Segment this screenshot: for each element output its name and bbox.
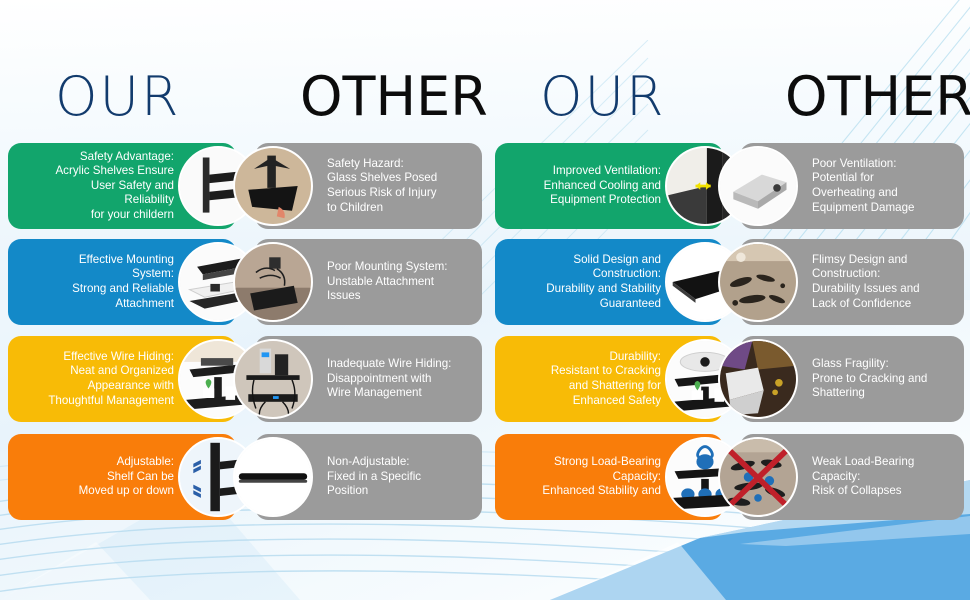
card-line: Resistant to Cracking [551, 364, 661, 379]
card-line: Construction: [812, 267, 880, 282]
card-line: Unstable Attachment [327, 275, 434, 290]
broken-debris-photo [718, 242, 798, 322]
comparison-row: Adjustable: Shelf Can be Moved up or dow… [0, 434, 970, 520]
card-line: Guaranteed [600, 297, 661, 312]
card-line: Attachment [115, 297, 174, 312]
card-line: Durability: [609, 350, 661, 365]
our-card-text: Effective Mounting System: Strong and Re… [14, 239, 174, 325]
card-line: Poor Ventilation: [812, 157, 896, 172]
card-line: Thoughtful Management [48, 394, 174, 409]
card-line: Durability and Stability [546, 282, 661, 297]
card-line: Safety Advantage: [80, 150, 174, 165]
card-line: Effective Mounting [79, 253, 174, 268]
other-card-text: Weak Load-Bearing Capacity: Risk of Coll… [812, 434, 956, 520]
card-line: Position [327, 484, 368, 499]
our-card-text: Durability: Resistant to Cracking and Sh… [501, 336, 661, 422]
other-card-text: Glass Fragility: Prone to Cracking and S… [812, 336, 956, 422]
heading-other-right: OTHER [785, 58, 970, 136]
card-line: Shattering [812, 386, 865, 401]
card-line: Glass Shelves Posed [327, 171, 437, 186]
comparison-row: Effective Wire Hiding: Neat and Organize… [0, 336, 970, 422]
cracked-glass-photo [718, 339, 798, 419]
other-card[interactable]: Weak Load-Bearing Capacity: Risk of Coll… [740, 434, 964, 520]
card-line: to Children [327, 201, 383, 216]
our-card-text: Effective Wire Hiding: Neat and Organize… [14, 336, 174, 422]
card-line: Solid Design and [573, 253, 661, 268]
other-card[interactable]: Poor Mounting System: Unstable Attachmen… [255, 239, 482, 325]
our-card-text: Adjustable: Shelf Can be Moved up or dow… [14, 434, 174, 520]
card-line: Serious Risk of Injury [327, 186, 437, 201]
comparison-infographic: OUR OTHER OUR OTHER Safety Advantage: Ac… [0, 0, 970, 600]
other-card-text: Poor Mounting System: Unstable Attachmen… [327, 239, 474, 325]
card-line: Shelf Can be [107, 470, 174, 485]
card-line: Overheating and [812, 186, 898, 201]
card-line: Prone to Cracking and [812, 372, 927, 387]
fixed-shelf-photo [233, 437, 313, 517]
other-card[interactable]: Poor Ventilation: Potential for Overheat… [740, 143, 964, 229]
comparison-row: Effective Mounting System: Strong and Re… [0, 239, 970, 325]
other-card[interactable]: Inadequate Wire Hiding: Disappointment w… [255, 336, 482, 422]
card-line: Potential for [812, 171, 874, 186]
our-card[interactable]: Improved Ventilation: Enhanced Cooling a… [495, 143, 723, 229]
overheating-device-photo [718, 146, 798, 226]
other-card-text: Inadequate Wire Hiding: Disappointment w… [327, 336, 474, 422]
unstable-mount-photo [233, 242, 313, 322]
card-line: and Shattering for [569, 379, 661, 394]
card-line: Improved Ventilation: [553, 164, 661, 179]
broken-glass-shelf-photo [233, 146, 313, 226]
other-card-text: Safety Hazard: Glass Shelves Posed Serio… [327, 143, 474, 229]
card-line: System: [132, 267, 174, 282]
other-card-text: Flimsy Design and Construction: Durabili… [812, 239, 956, 325]
card-line: Flimsy Design and [812, 253, 907, 268]
other-card[interactable]: Non-Adjustable: Fixed in a Specific Posi… [255, 434, 482, 520]
card-line: Inadequate Wire Hiding: [327, 357, 451, 372]
messy-wires-photo [233, 339, 313, 419]
card-line: Issues [327, 289, 361, 304]
card-line: Moved up or down [79, 484, 174, 499]
our-card[interactable]: Strong Load-Bearing Capacity: Enhanced S… [495, 434, 723, 520]
our-card[interactable]: Adjustable: Shelf Can be Moved up or dow… [8, 434, 236, 520]
card-line: Glass Fragility: [812, 357, 889, 372]
card-line: Disappointment with [327, 372, 431, 387]
card-line: User Safety and [91, 179, 174, 194]
our-card[interactable]: Durability: Resistant to Cracking and Sh… [495, 336, 723, 422]
card-line: Poor Mounting System: [327, 260, 448, 275]
heading-our-right: OUR [540, 58, 666, 136]
card-line: Equipment Damage [812, 201, 914, 216]
collapsed-shelf-photo-crossed-out [718, 437, 798, 517]
other-card-text: Non-Adjustable: Fixed in a Specific Posi… [327, 434, 474, 520]
card-line: for your childern [91, 208, 174, 223]
our-card-text: Solid Design and Construction: Durabilit… [501, 239, 661, 325]
other-card-text: Poor Ventilation: Potential for Overheat… [812, 143, 956, 229]
card-line: Enhanced Cooling and [544, 179, 661, 194]
our-card[interactable]: Solid Design and Construction: Durabilit… [495, 239, 723, 325]
card-line: Equipment Protection [550, 193, 661, 208]
card-line: Fixed in a Specific [327, 470, 421, 485]
card-line: Risk of Collapses [812, 484, 902, 499]
card-line: Strong Load-Bearing [554, 455, 661, 470]
column-headings: OUR OTHER OUR OTHER [0, 58, 970, 136]
other-card[interactable]: Safety Hazard: Glass Shelves Posed Serio… [255, 143, 482, 229]
card-line: Construction: [593, 267, 661, 282]
card-line: Capacity: [613, 470, 661, 485]
comparison-row: Safety Advantage: Acrylic Shelves Ensure… [0, 143, 970, 229]
card-line: Wire Management [327, 386, 422, 401]
card-line: Neat and Organized [70, 364, 174, 379]
our-card[interactable]: Effective Mounting System: Strong and Re… [8, 239, 236, 325]
our-card-text: Strong Load-Bearing Capacity: Enhanced S… [501, 434, 661, 520]
card-line: Capacity: [812, 470, 860, 485]
card-line: Durability Issues and [812, 282, 920, 297]
our-card-text: Safety Advantage: Acrylic Shelves Ensure… [14, 143, 174, 229]
card-line: Safety Hazard: [327, 157, 404, 172]
card-line: Reliability [124, 193, 174, 208]
card-line: Effective Wire Hiding: [63, 350, 174, 365]
card-line: Adjustable: [117, 455, 174, 470]
our-card[interactable]: Effective Wire Hiding: Neat and Organize… [8, 336, 236, 422]
heading-other-left: OTHER [300, 58, 488, 136]
our-card[interactable]: Safety Advantage: Acrylic Shelves Ensure… [8, 143, 236, 229]
card-line: Acrylic Shelves Ensure [55, 164, 174, 179]
card-line: Enhanced Stability and [542, 484, 661, 499]
card-line: Enhanced Safety [573, 394, 661, 409]
card-line: Weak Load-Bearing [812, 455, 914, 470]
card-line: Non-Adjustable: [327, 455, 410, 470]
card-line: Strong and Reliable [72, 282, 174, 297]
other-card[interactable]: Glass Fragility: Prone to Cracking and S… [740, 336, 964, 422]
card-line: Appearance with [88, 379, 174, 394]
heading-our-left: OUR [55, 58, 181, 136]
card-line: Lack of Confidence [812, 297, 911, 312]
our-card-text: Improved Ventilation: Enhanced Cooling a… [501, 143, 661, 229]
comparison-grid: Safety Advantage: Acrylic Shelves Ensure… [0, 143, 970, 533]
other-card[interactable]: Flimsy Design and Construction: Durabili… [740, 239, 964, 325]
